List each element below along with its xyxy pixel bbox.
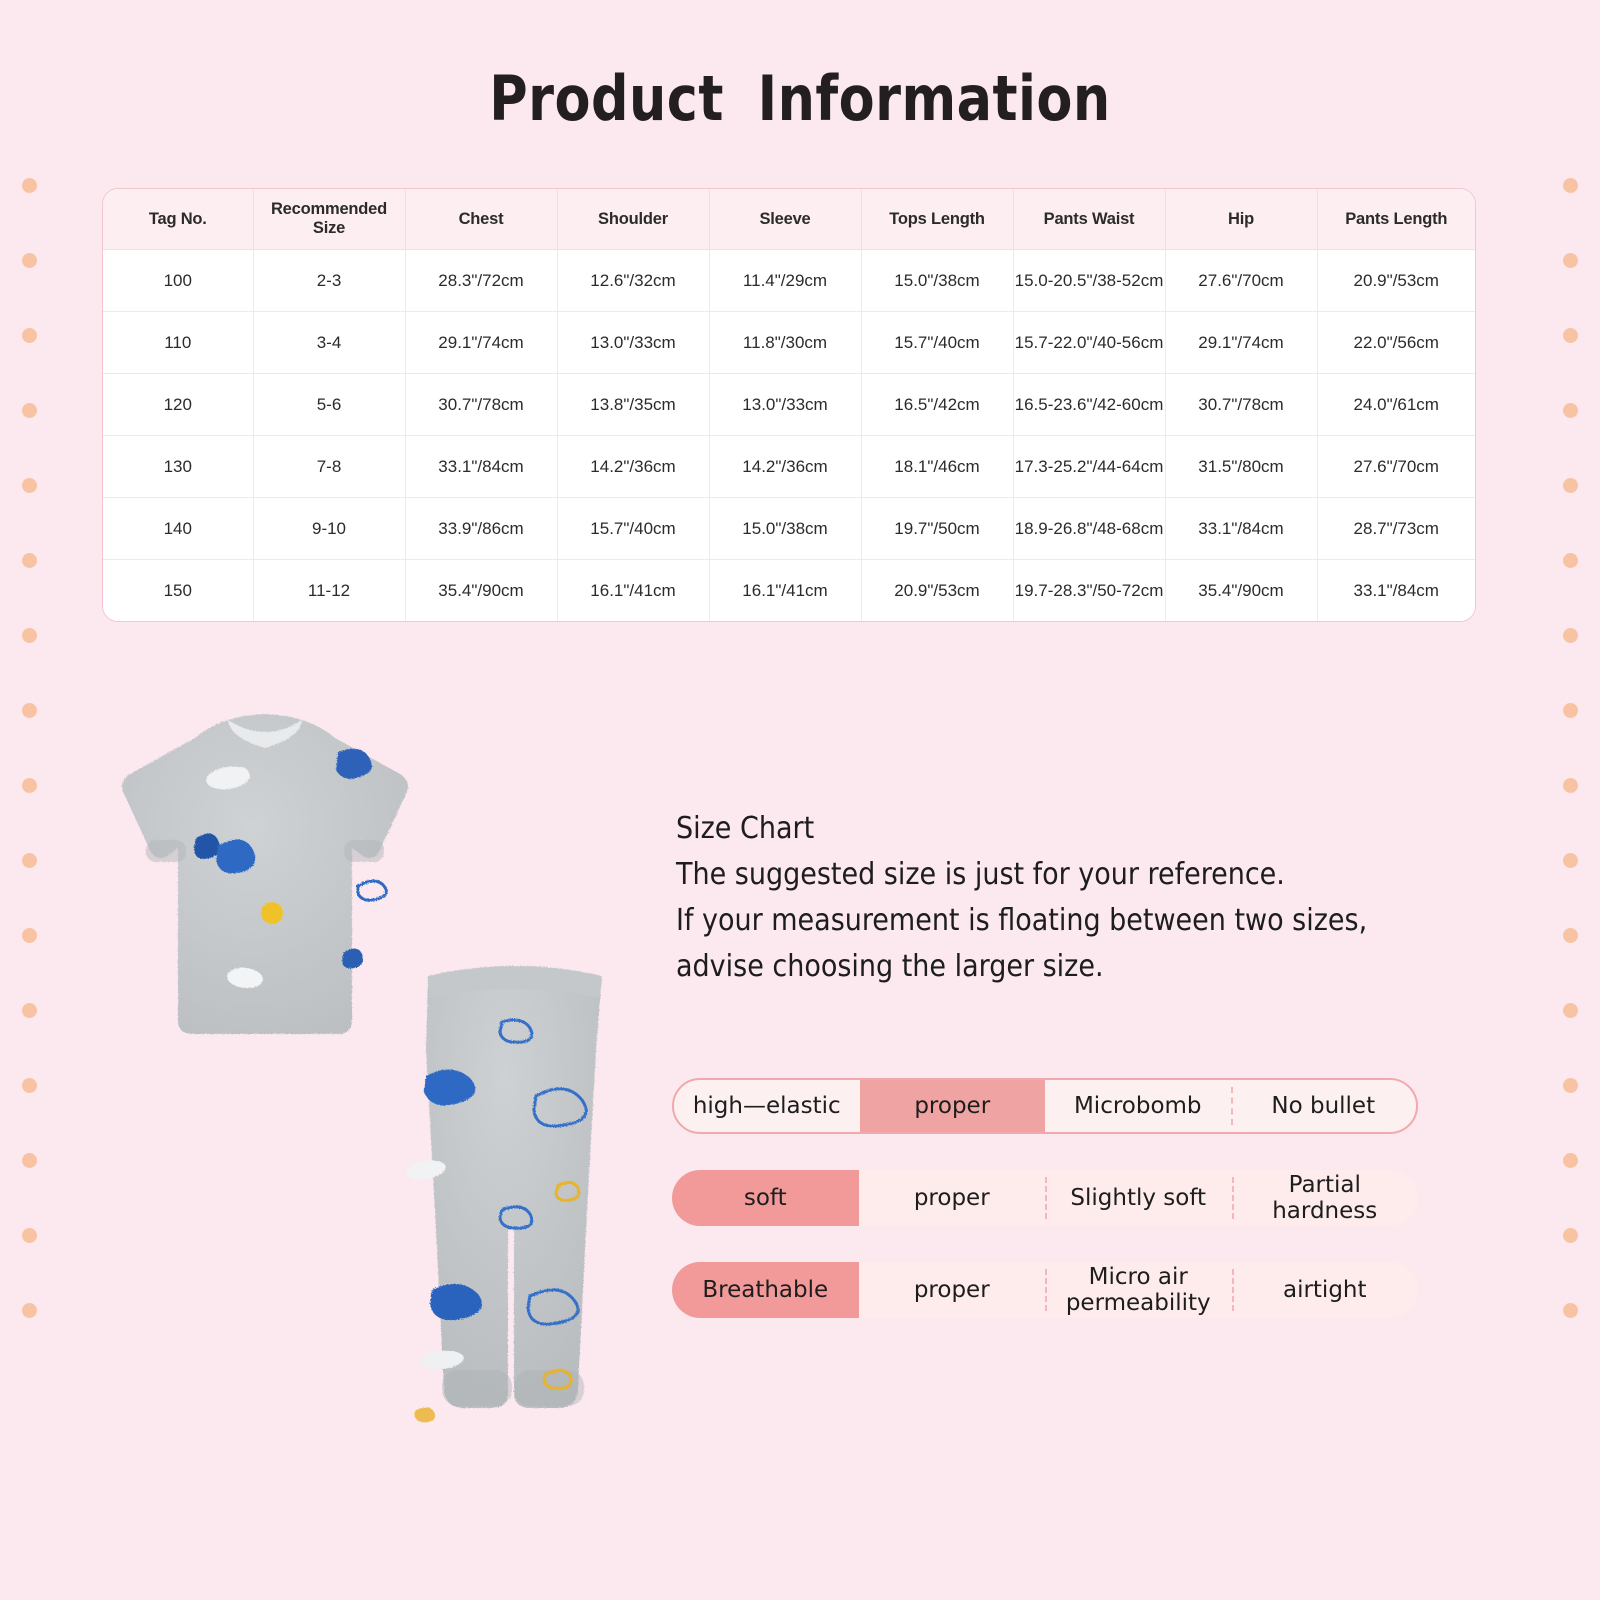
table-cell: 29.1"/74cm — [1165, 312, 1317, 374]
decorative-dot — [1563, 853, 1578, 868]
table-header-cell: Shoulder — [557, 189, 709, 250]
property-bar: softproperSlightly softPartial hardness — [672, 1170, 1418, 1226]
table-row: 1103-429.1"/74cm13.0"/33cm11.8"/30cm15.7… — [103, 312, 1475, 374]
table-cell: 140 — [103, 498, 253, 560]
table-cell: 28.7"/73cm — [1317, 498, 1475, 560]
decorative-dot — [1563, 928, 1578, 943]
table-cell: 35.4"/90cm — [1165, 560, 1317, 622]
decorative-dot — [1563, 328, 1578, 343]
decorative-dot — [1563, 1078, 1578, 1093]
table-cell: 14.2"/36cm — [709, 436, 861, 498]
table-header-cell: Pants Waist — [1013, 189, 1165, 250]
decorative-dot — [22, 553, 37, 568]
table-cell: 16.5"/42cm — [861, 374, 1013, 436]
table-cell: 22.0"/56cm — [1317, 312, 1475, 374]
table-cell: 11.8"/30cm — [709, 312, 861, 374]
size-chart-line-3: advise choosing the larger size. — [676, 944, 1436, 990]
table-cell: 17.3-25.2"/44-64cm — [1013, 436, 1165, 498]
property-segment-active[interactable]: Breathable — [672, 1262, 859, 1318]
property-segment[interactable]: Slightly soft — [1045, 1170, 1232, 1226]
table-cell: 30.7"/78cm — [1165, 374, 1317, 436]
table-row: 15011-1235.4"/90cm16.1"/41cm16.1"/41cm20… — [103, 560, 1475, 622]
table-cell: 35.4"/90cm — [405, 560, 557, 622]
property-bar: BreathableproperMicro air permeabilityai… — [672, 1262, 1418, 1318]
fleece-pajama-top-image — [100, 690, 430, 1060]
table-cell: 100 — [103, 250, 253, 312]
table-cell: 110 — [103, 312, 253, 374]
decorative-dot — [22, 1303, 37, 1318]
table-header-row: Tag No.Recommended SizeChestShoulderSlee… — [103, 189, 1475, 250]
size-chart-note: Size Chart The suggested size is just fo… — [676, 806, 1436, 990]
decorative-dot — [22, 703, 37, 718]
table-cell: 13.0"/33cm — [709, 374, 861, 436]
table-cell: 33.9"/86cm — [405, 498, 557, 560]
property-segment[interactable]: proper — [859, 1262, 1046, 1318]
table-cell: 3-4 — [253, 312, 405, 374]
table-cell: 15.7-22.0"/40-56cm — [1013, 312, 1165, 374]
size-chart-heading: Size Chart — [676, 806, 1436, 852]
decorative-dot — [1563, 478, 1578, 493]
left-dot-rail — [0, 0, 56, 1600]
table-cell: 15.7"/40cm — [861, 312, 1013, 374]
table-row: 1002-328.3"/72cm12.6"/32cm11.4"/29cm15.0… — [103, 250, 1475, 312]
table-cell: 33.1"/84cm — [1165, 498, 1317, 560]
table-cell: 16.1"/41cm — [557, 560, 709, 622]
property-segment[interactable]: high—elastic — [674, 1080, 860, 1132]
table-cell: 28.3"/72cm — [405, 250, 557, 312]
property-segment[interactable]: No bullet — [1231, 1080, 1417, 1132]
property-segment[interactable]: Microbomb — [1045, 1080, 1231, 1132]
table-cell: 24.0"/61cm — [1317, 374, 1475, 436]
decorative-dot — [1563, 1303, 1578, 1318]
table-cell: 5-6 — [253, 374, 405, 436]
table-cell: 130 — [103, 436, 253, 498]
size-chart-line-2: If your measurement is floating between … — [676, 898, 1436, 944]
table-row: 1409-1033.9"/86cm15.7"/40cm15.0"/38cm19.… — [103, 498, 1475, 560]
decorative-dot — [1563, 1228, 1578, 1243]
table-cell: 9-10 — [253, 498, 405, 560]
decorative-dot — [1563, 253, 1578, 268]
table-row: 1205-630.7"/78cm13.8"/35cm13.0"/33cm16.5… — [103, 374, 1475, 436]
table-header-cell: Tag No. — [103, 189, 253, 250]
decorative-dot — [1563, 178, 1578, 193]
table-cell: 18.1"/46cm — [861, 436, 1013, 498]
table-row: 1307-833.1"/84cm14.2"/36cm14.2"/36cm18.1… — [103, 436, 1475, 498]
table-cell: 18.9-26.8"/48-68cm — [1013, 498, 1165, 560]
decorative-dot — [22, 778, 37, 793]
property-segment[interactable]: Partial hardness — [1232, 1170, 1419, 1226]
product-photos — [90, 680, 670, 1480]
decorative-dot — [1563, 1153, 1578, 1168]
table-header-cell: Sleeve — [709, 189, 861, 250]
table-cell: 27.6"/70cm — [1165, 250, 1317, 312]
table-cell: 150 — [103, 560, 253, 622]
decorative-dot — [1563, 553, 1578, 568]
property-segment[interactable]: airtight — [1232, 1262, 1419, 1318]
decorative-dot — [22, 328, 37, 343]
right-dot-rail — [1544, 0, 1600, 1600]
decorative-dot — [22, 628, 37, 643]
table-cell: 27.6"/70cm — [1317, 436, 1475, 498]
table-cell: 2-3 — [253, 250, 405, 312]
table-cell: 20.9"/53cm — [861, 560, 1013, 622]
decorative-dot — [22, 478, 37, 493]
property-segment[interactable]: proper — [859, 1170, 1046, 1226]
fleece-pajama-pants-image — [390, 930, 640, 1450]
table-cell: 19.7-28.3"/50-72cm — [1013, 560, 1165, 622]
table-cell: 13.8"/35cm — [557, 374, 709, 436]
decorative-dot — [1563, 403, 1578, 418]
table-cell: 14.2"/36cm — [557, 436, 709, 498]
decorative-dot — [1563, 703, 1578, 718]
table-cell: 33.1"/84cm — [405, 436, 557, 498]
decorative-dot — [22, 1003, 37, 1018]
table-cell: 120 — [103, 374, 253, 436]
decorative-dot — [22, 1078, 37, 1093]
decorative-dot — [22, 1228, 37, 1243]
table-cell: 16.1"/41cm — [709, 560, 861, 622]
property-segment-active[interactable]: proper — [860, 1080, 1046, 1132]
decorative-dot — [22, 1153, 37, 1168]
table-header-cell: Tops Length — [861, 189, 1013, 250]
table-header-cell: Hip — [1165, 189, 1317, 250]
table-header-cell: Chest — [405, 189, 557, 250]
table-cell: 31.5"/80cm — [1165, 436, 1317, 498]
page-title: Product Information — [48, 62, 1552, 135]
table-cell: 11-12 — [253, 560, 405, 622]
property-segment-active[interactable]: soft — [672, 1170, 859, 1226]
table-cell: 20.9"/53cm — [1317, 250, 1475, 312]
table-cell: 33.1"/84cm — [1317, 560, 1475, 622]
property-bar: high—elasticproperMicrobombNo bullet — [672, 1078, 1418, 1134]
size-chart-line-1: The suggested size is just for your refe… — [676, 852, 1436, 898]
table-cell: 7-8 — [253, 436, 405, 498]
decorative-dot — [22, 928, 37, 943]
table-header-cell: Recommended Size — [253, 189, 405, 250]
table-cell: 16.5-23.6"/42-60cm — [1013, 374, 1165, 436]
size-table: Tag No.Recommended SizeChestShoulderSlee… — [102, 188, 1476, 622]
table-cell: 29.1"/74cm — [405, 312, 557, 374]
decorative-dot — [1563, 628, 1578, 643]
table-cell: 12.6"/32cm — [557, 250, 709, 312]
decorative-dot — [1563, 1003, 1578, 1018]
decorative-dot — [1563, 778, 1578, 793]
table-header-cell: Pants Length — [1317, 189, 1475, 250]
decorative-dot — [22, 853, 37, 868]
decorative-dot — [22, 253, 37, 268]
table-cell: 15.7"/40cm — [557, 498, 709, 560]
table-cell: 11.4"/29cm — [709, 250, 861, 312]
decorative-dot — [22, 178, 37, 193]
table-cell: 15.0"/38cm — [709, 498, 861, 560]
property-bars: high—elasticproperMicrobombNo bulletsoft… — [672, 1078, 1418, 1354]
decorative-dot — [22, 403, 37, 418]
table-cell: 15.0"/38cm — [861, 250, 1013, 312]
table-cell: 30.7"/78cm — [405, 374, 557, 436]
table-cell: 15.0-20.5"/38-52cm — [1013, 250, 1165, 312]
property-segment[interactable]: Micro air permeability — [1045, 1262, 1232, 1318]
table-cell: 13.0"/33cm — [557, 312, 709, 374]
table-cell: 19.7"/50cm — [861, 498, 1013, 560]
